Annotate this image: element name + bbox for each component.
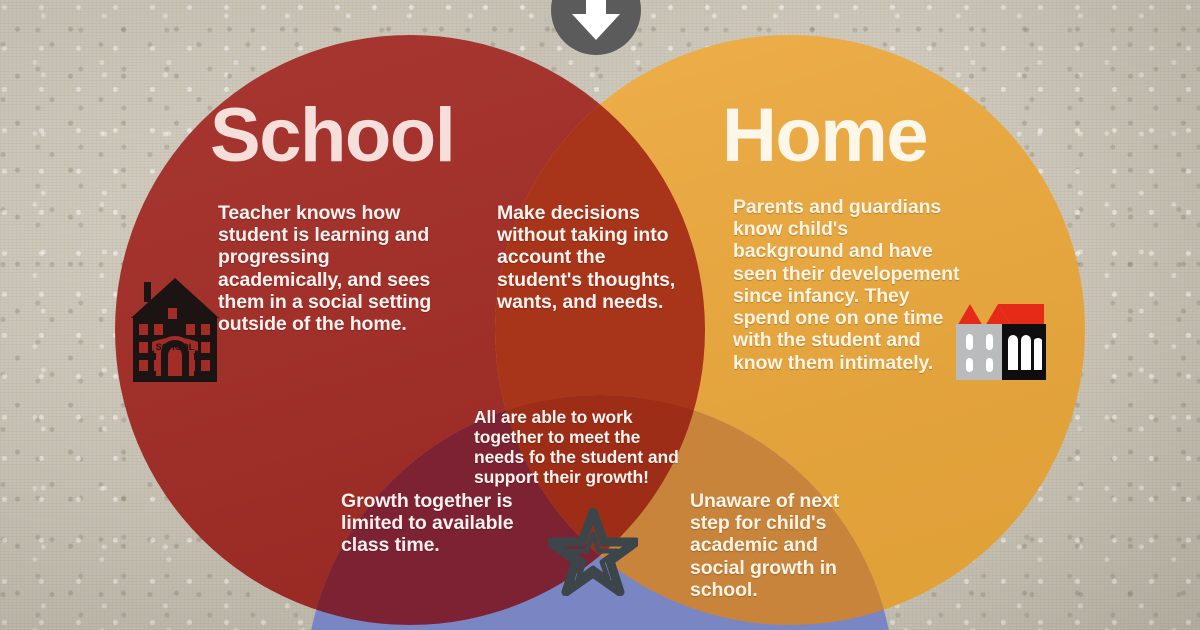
school-third-overlap-text: Growth together is limited to available …: [341, 490, 531, 557]
star-icon: [548, 508, 638, 596]
school-description-text: Teacher knows how student is learning an…: [218, 202, 458, 335]
home-title: Home: [722, 98, 927, 174]
school-building-icon: SCHOOL: [122, 276, 228, 384]
school-title: School: [210, 98, 454, 174]
house-icon: [948, 286, 1050, 386]
home-description-text: Parents and guardians know child's backg…: [733, 196, 961, 374]
down-arrow-circle-icon[interactable]: [548, 0, 644, 58]
all-three-overlap-text: All are able to work together to meet th…: [474, 408, 694, 488]
infographic-canvas: School Home Teacher knows how student is…: [0, 0, 1200, 630]
school-home-overlap-text: Make decisions without taking into accou…: [497, 202, 693, 313]
home-third-overlap-text: Unaware of next step for child's academi…: [690, 490, 870, 601]
